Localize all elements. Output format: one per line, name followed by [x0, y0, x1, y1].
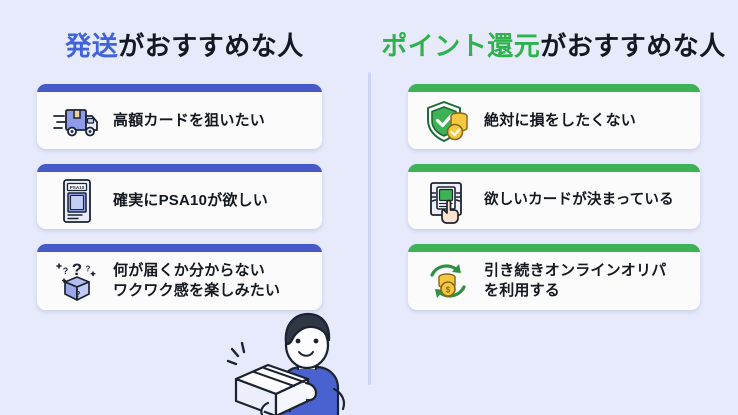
tap-card-select-icon	[422, 178, 474, 224]
man-holding-parcel-illustration	[228, 303, 368, 415]
list-item[interactable]: PSA10 確実にPSA10が欲しい	[37, 164, 322, 229]
heading-highlight: 発送	[65, 31, 118, 61]
card-accent-bar	[37, 164, 322, 172]
list-item-label: 欲しいカードが決まっている	[484, 191, 674, 210]
list-item[interactable]: $ 引き続きオンラインオリパ を利用する	[408, 244, 700, 310]
svg-text:?: ?	[76, 290, 81, 299]
svg-text:$: $	[446, 286, 451, 295]
card-accent-bar	[37, 244, 322, 252]
card-accent-bar	[408, 84, 700, 92]
column-shipping: 発送がおすすめな人	[0, 0, 369, 415]
list-item-label: 引き続きオンラインオリパ を利用する	[484, 261, 666, 301]
shield-check-coins-icon	[422, 98, 474, 144]
list-item-label: 何が届くか分からない ワクワク感を楽しみたい	[113, 261, 280, 301]
shipping-card-list: 高額カードを狙いたい PSA10	[37, 84, 322, 325]
list-item[interactable]: ? ? ? ? 何が届くか分からない ワクワク感を楽しみたい	[37, 244, 322, 310]
svg-text:?: ?	[86, 265, 91, 274]
heading-rest: がおすすめな人	[540, 31, 726, 61]
column-points-heading: ポイント還元がおすすめな人	[369, 26, 738, 63]
heading-highlight: ポイント還元	[381, 31, 540, 61]
svg-text:PSA10: PSA10	[70, 184, 85, 189]
card-accent-bar	[408, 244, 700, 252]
column-points: ポイント還元がおすすめな人	[369, 0, 738, 415]
card-accent-bar	[37, 84, 322, 92]
delivery-truck-icon	[51, 98, 103, 144]
list-item[interactable]: 高額カードを狙いたい	[37, 84, 322, 149]
svg-text:?: ?	[63, 266, 69, 276]
mystery-box-icon: ? ? ? ?	[51, 258, 103, 304]
heading-rest: がおすすめな人	[118, 31, 304, 61]
coins-refresh-cycle-icon: $	[422, 258, 474, 304]
points-card-list: 絶対に損をしたくない	[408, 84, 700, 325]
column-shipping-heading: 発送がおすすめな人	[0, 26, 369, 63]
list-item-label: 絶対に損をしたくない	[484, 111, 636, 131]
list-item[interactable]: 絶対に損をしたくない	[408, 84, 700, 149]
list-item-label: 確実にPSA10が欲しい	[113, 191, 268, 211]
card-accent-bar	[408, 164, 700, 172]
list-item[interactable]: 欲しいカードが決まっている	[408, 164, 700, 229]
comparison-infographic: 発送がおすすめな人	[0, 0, 738, 415]
svg-text:?: ?	[72, 260, 82, 279]
psa10-graded-card-icon: PSA10	[51, 178, 103, 224]
list-item-label: 高額カードを狙いたい	[113, 111, 265, 131]
